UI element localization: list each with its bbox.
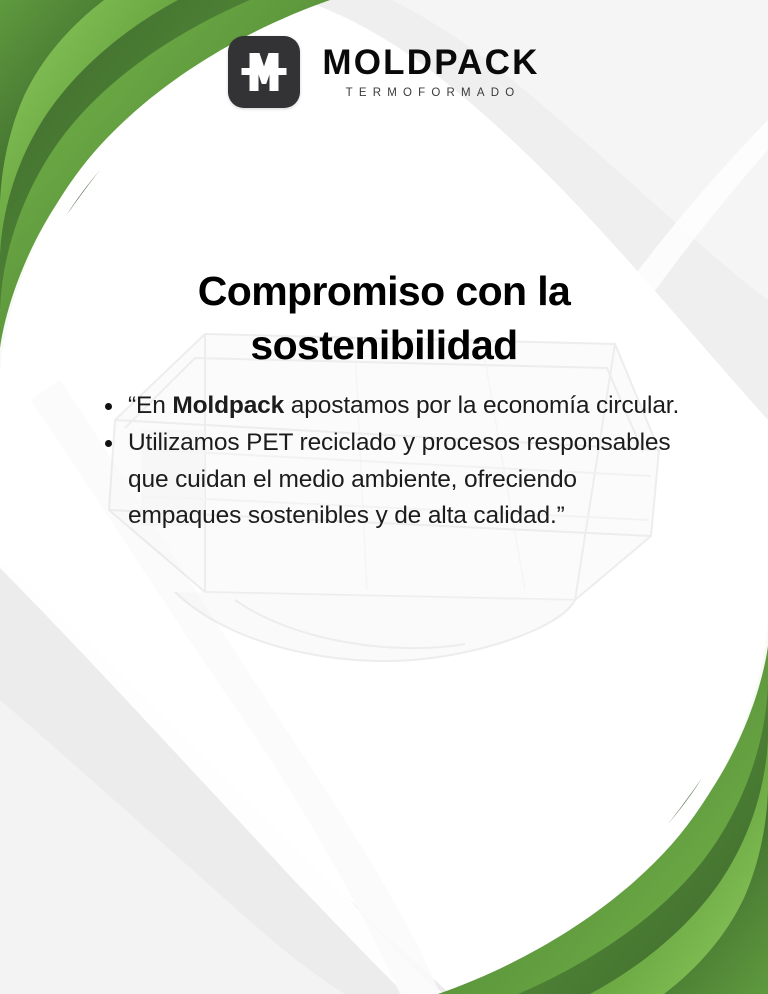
- white-swoosh-bottom-left-1: [0, 520, 445, 994]
- logo-text-lockup: MOLDPACK TERMOFORMADO: [322, 45, 539, 99]
- poster-canvas: MOLDPACK TERMOFORMADO Compromiso con la …: [0, 0, 768, 994]
- white-hairline-top-left: [0, 170, 96, 376]
- page-title: Compromiso con la sostenibilidad: [84, 265, 684, 372]
- gray-field-bottom-left: [0, 560, 450, 994]
- sustainability-bullet-list: “En Moldpack apostamos por la economía c…: [96, 388, 696, 535]
- brand-logo: MOLDPACK TERMOFORMADO: [0, 36, 768, 108]
- green-ribbon-bottom-right-1: [438, 622, 768, 994]
- dark-sliver-bottom-right: [668, 778, 702, 824]
- logo-tagline: TERMOFORMADO: [342, 87, 521, 99]
- bullet-text-prefix: “En: [128, 392, 172, 419]
- bullet-text-suffix: apostamos por la economía circular.: [284, 392, 679, 419]
- logo-wordmark: MOLDPACK: [322, 45, 539, 80]
- bullet-text-prefix: Utilizamos PET reciclado y procesos resp…: [128, 429, 670, 530]
- list-item: Utilizamos PET reciclado y procesos resp…: [96, 425, 696, 535]
- green-ribbon-bottom-right-2: [518, 684, 768, 994]
- green-ribbon-bottom-right-3: [590, 738, 768, 994]
- list-item: “En Moldpack apostamos por la economía c…: [96, 388, 696, 425]
- green-ribbon-bottom-right-4: [664, 790, 768, 994]
- moldpack-m-monogram-icon: [228, 36, 300, 108]
- gray-field-bottom-left-inner: [0, 700, 345, 994]
- white-hairline-bottom-right: [672, 618, 768, 824]
- body-copy: “En Moldpack apostamos por la economía c…: [96, 388, 696, 535]
- m-monogram-glyph: [238, 50, 290, 94]
- bullet-text-emphasis: Moldpack: [172, 392, 284, 419]
- dark-sliver-top-left: [66, 170, 100, 216]
